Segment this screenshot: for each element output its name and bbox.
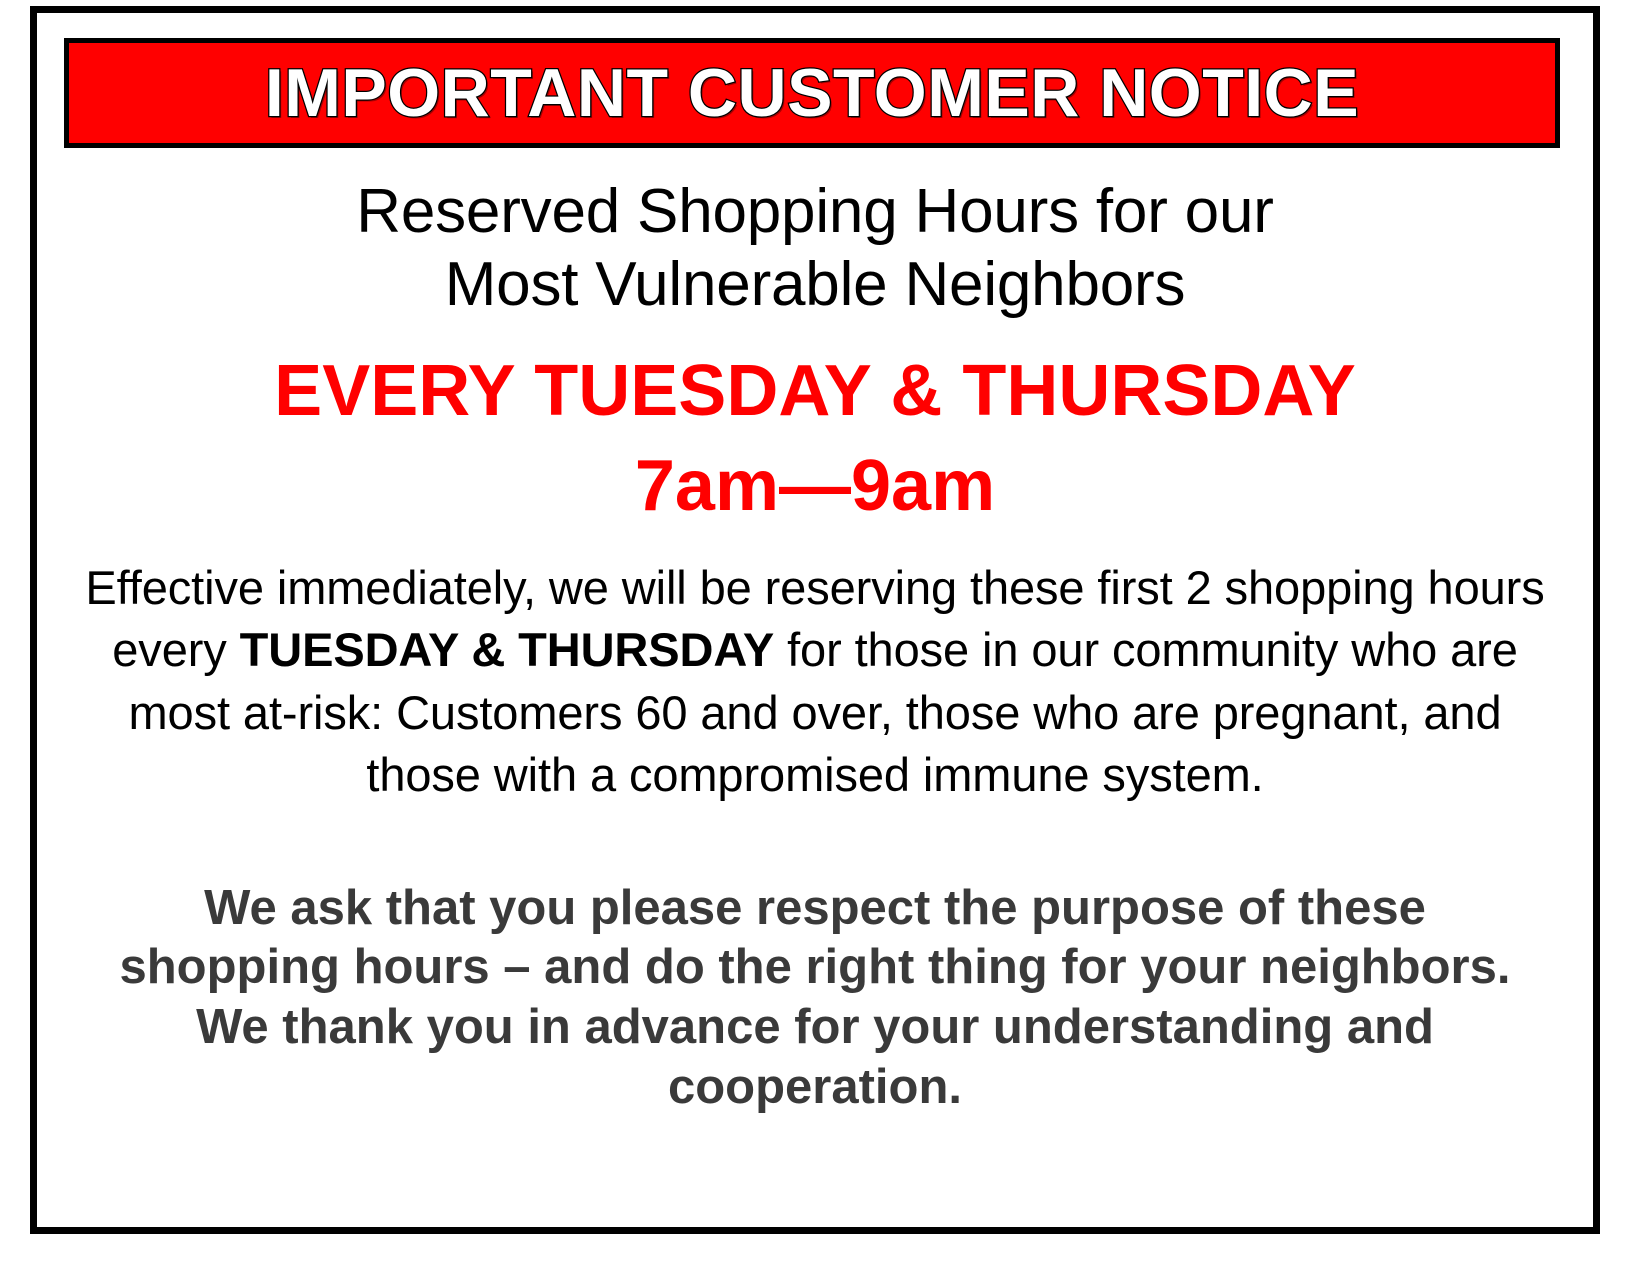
highlight-time: 7am—9am — [55, 432, 1575, 527]
subtitle-line-2: Most Vulnerable Neighbors — [55, 248, 1575, 321]
notice-banner: IMPORTANT CUSTOMER NOTICE — [64, 38, 1560, 148]
highlight-days: EVERY TUESDAY & THURSDAY — [55, 321, 1575, 432]
policy-paragraph: Effective immediately, we will be reserv… — [55, 527, 1575, 807]
closing-statement: We ask that you please respect the purpo… — [55, 807, 1575, 1118]
notice-body: Reserved Shopping Hours for our Most Vul… — [55, 163, 1575, 1118]
subtitle-block: Reserved Shopping Hours for our Most Vul… — [55, 163, 1575, 321]
banner-title: IMPORTANT CUSTOMER NOTICE — [265, 59, 1359, 127]
subtitle-line-1: Reserved Shopping Hours for our — [55, 175, 1575, 248]
notice-sign-frame: IMPORTANT CUSTOMER NOTICE Reserved Shopp… — [30, 6, 1600, 1234]
policy-paragraph-emphasis: TUESDAY & THURSDAY — [240, 623, 774, 676]
